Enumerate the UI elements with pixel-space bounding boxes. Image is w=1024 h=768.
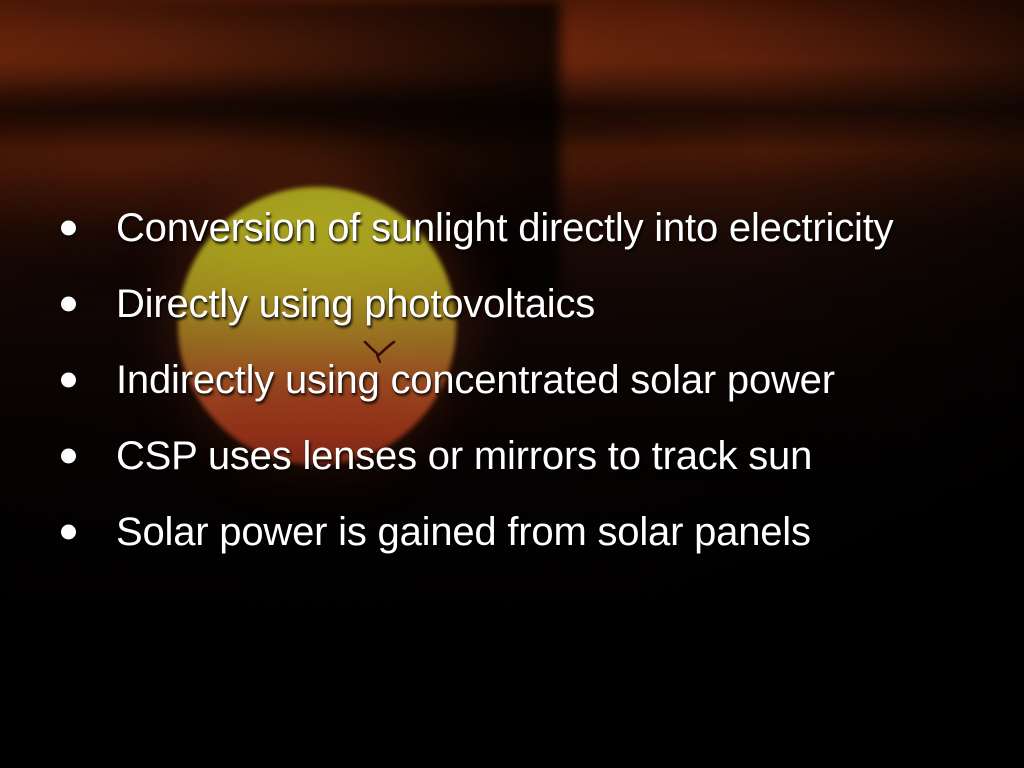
bullet-list: Conversion of sunlight directly into ele… xyxy=(0,190,1024,570)
bullet-text-4: CSP uses lenses or mirrors to track sun xyxy=(116,436,812,476)
bullet-point-icon xyxy=(61,221,76,236)
bullet-point-icon xyxy=(61,297,76,312)
presentation-slide: Conversion of sunlight directly into ele… xyxy=(0,0,1024,768)
bullet-item-5: Solar power is gained from solar panels xyxy=(0,494,1024,570)
bullet-item-2: Directly using photovoltaics xyxy=(0,266,1024,342)
cloud-band-dark xyxy=(0,88,1024,158)
bullet-point-icon xyxy=(61,449,76,464)
bullet-point-icon xyxy=(61,525,76,540)
cloud-band-upper xyxy=(0,0,904,110)
bullet-text-1: Conversion of sunlight directly into ele… xyxy=(116,208,893,248)
bullet-point-icon xyxy=(61,373,76,388)
bullet-item-4: CSP uses lenses or mirrors to track sun xyxy=(0,418,1024,494)
bullet-item-3: Indirectly using concentrated solar powe… xyxy=(0,342,1024,418)
bullet-text-3: Indirectly using concentrated solar powe… xyxy=(116,360,835,400)
bullet-item-1: Conversion of sunlight directly into ele… xyxy=(0,190,1024,266)
bullet-text-2: Directly using photovoltaics xyxy=(116,284,595,324)
bullet-text-5: Solar power is gained from solar panels xyxy=(116,512,811,552)
